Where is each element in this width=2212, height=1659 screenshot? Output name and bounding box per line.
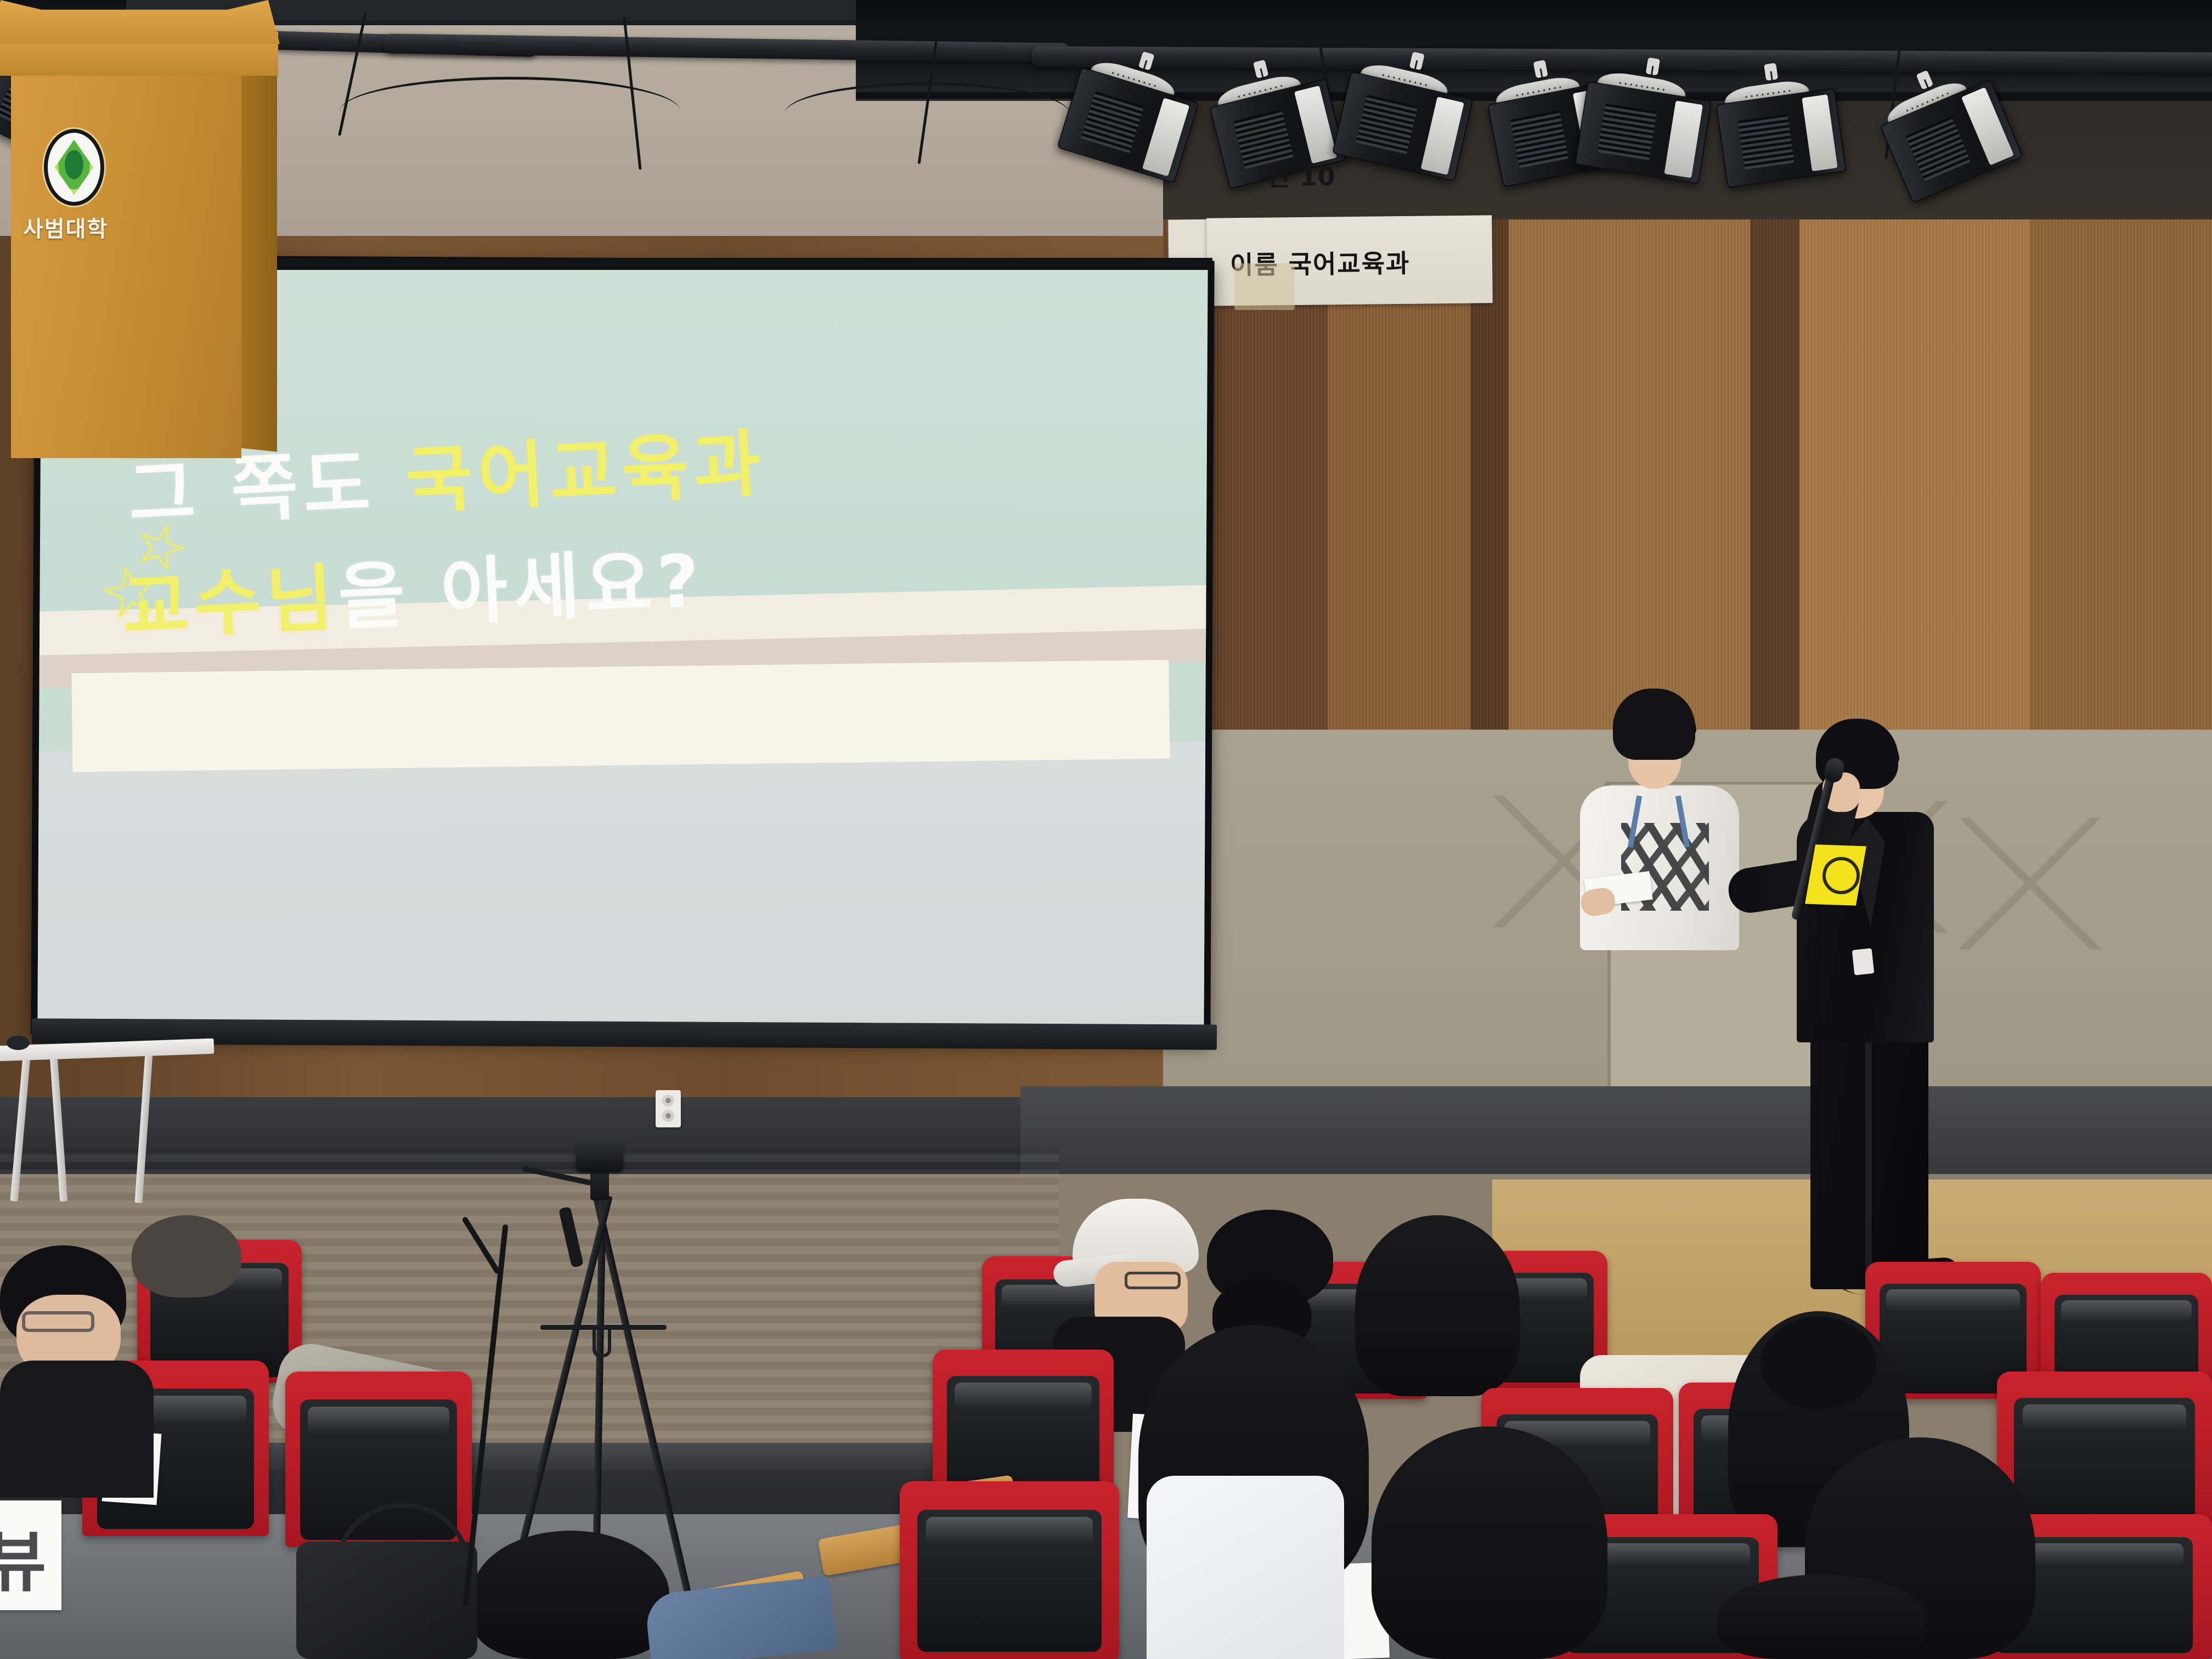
audience-hair <box>1372 1426 1607 1659</box>
seat-gloss <box>1886 1289 2019 1311</box>
slide-line2-white: 을 아세요? <box>336 539 707 640</box>
light-body <box>1716 88 1846 188</box>
slide-line2-yellow: 교수님 <box>120 556 340 651</box>
light-vent <box>1738 114 1794 170</box>
podium-label: 사범대학 <box>23 211 108 243</box>
light-vent <box>1356 94 1417 154</box>
light-lens <box>1802 94 1838 171</box>
tripod-head[interactable] <box>576 1141 623 1172</box>
drooping-cable <box>785 82 1070 145</box>
podium-front-panel: 사범대학 <box>11 69 241 458</box>
slide-band-white <box>71 660 1170 772</box>
tripod-neck <box>590 1169 609 1200</box>
audience-hair <box>472 1531 669 1659</box>
stage-wall-base-trim <box>1020 1086 2212 1174</box>
seat-gloss <box>926 1517 1093 1545</box>
presenter-left-fringe <box>1614 707 1696 738</box>
audience-hair <box>1355 1215 1520 1396</box>
drooping-cable <box>340 77 680 145</box>
acoustic-chevron <box>1959 817 2101 949</box>
power-outlet[interactable] <box>656 1090 681 1127</box>
slide-line1-yellow: 국어교육과 <box>404 421 768 524</box>
banner-line-top: 년 10 <box>1266 156 1336 193</box>
seat-gloss <box>2023 1404 2186 1431</box>
eyeglasses <box>1125 1272 1181 1289</box>
light-lens <box>1294 85 1338 163</box>
seat-gloss <box>2061 1300 2191 1322</box>
light-vent <box>1906 116 1971 181</box>
slide-band-grey <box>37 741 1207 1024</box>
light-vent <box>1081 91 1144 153</box>
light-lens <box>1421 97 1464 175</box>
seat-gloss <box>955 1383 1092 1409</box>
audience-shoulders <box>0 1361 154 1498</box>
light-vent <box>1510 110 1568 168</box>
eyeglasses <box>22 1311 94 1332</box>
seat-sign-text: 뷰 <box>0 1509 46 1604</box>
podium-side-panel <box>239 64 277 452</box>
object-on-table <box>7 1036 30 1050</box>
audience-head <box>132 1215 241 1297</box>
outlet-socket-upper <box>662 1094 674 1107</box>
camera-tripod[interactable] <box>483 1130 713 1591</box>
tripod-leg-grip <box>558 1206 584 1268</box>
banner-smudge <box>1234 263 1295 310</box>
audience-white-shirt <box>1147 1476 1344 1659</box>
seat[interactable] <box>900 1481 1119 1659</box>
university-seal-icon <box>44 129 104 206</box>
seat-gloss <box>308 1407 449 1435</box>
auditorium-presentation-photo: 의 년 10 이룸 국어교육과 ☆ ☆ 그 쪽도 국어교육과 교수님을 아세요? <box>0 0 2212 1659</box>
light-lens <box>1664 100 1703 178</box>
tripod-hook <box>592 1329 611 1357</box>
outlet-socket-lower <box>662 1110 674 1122</box>
shoulder-bag <box>296 1542 477 1659</box>
audience-hair <box>1717 1575 1926 1659</box>
light-vent <box>1598 103 1656 160</box>
podium: 사범대학 <box>0 0 274 455</box>
seat[interactable] <box>1997 1372 2212 1536</box>
audience-hair-bun <box>1761 1317 1876 1410</box>
microphone-cable <box>1816 900 1876 1295</box>
